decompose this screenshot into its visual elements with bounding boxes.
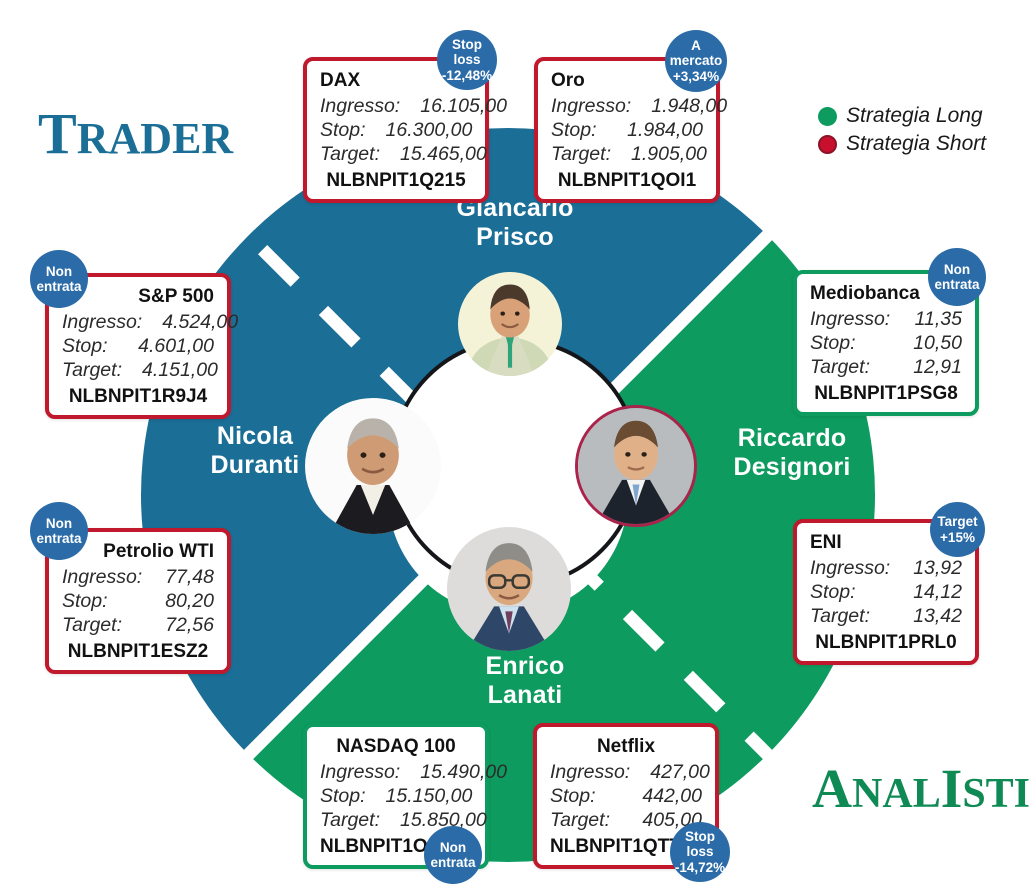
avatar-nicola-duranti xyxy=(305,398,441,534)
field-label-ingresso: Ingresso: xyxy=(320,95,420,119)
field-value-stop: 442,00 xyxy=(642,785,702,809)
page-title-analisti: ANALISTI xyxy=(812,757,1030,820)
badge-line-2: mercato xyxy=(670,53,723,68)
card-isin-code: NLBNPIT1Q215 xyxy=(320,170,472,192)
card-isin-code: NLBNPIT1PSG8 xyxy=(810,383,962,405)
card-row-ingresso: Ingresso: 1.948,00 xyxy=(551,95,703,119)
strategy-legend: Strategia Long Strategia Short xyxy=(818,104,986,160)
field-value-target: 72,56 xyxy=(165,614,214,638)
badge-line-2: entrata xyxy=(934,277,979,292)
card-row-ingresso: Ingresso: 77,48 xyxy=(62,566,214,590)
card-row-ingresso: Ingresso: 16.105,00 xyxy=(320,95,472,119)
badge-line-1: Target xyxy=(937,514,977,529)
field-label-stop: Stop: xyxy=(320,785,386,809)
field-value-stop: 16.300,00 xyxy=(386,119,473,143)
avatar-giancarlo-prisco xyxy=(458,272,562,376)
field-label-target: Target: xyxy=(550,809,630,833)
field-value-ingresso: 4.524,00 xyxy=(162,311,238,335)
field-label-stop: Stop: xyxy=(320,119,386,143)
card-isin-code: NLBNPIT1QOI1 xyxy=(551,170,703,192)
field-value-stop: 14,12 xyxy=(913,581,962,605)
card-row-target: Target: 1.905,00 xyxy=(551,143,703,167)
field-value-target: 13,42 xyxy=(913,605,962,629)
title-analisti-initial: A xyxy=(812,758,852,819)
field-value-ingresso: 16.105,00 xyxy=(420,95,507,119)
card-row-stop: Stop: 442,00 xyxy=(550,785,702,809)
legend-label-long: Strategia Long xyxy=(846,104,983,128)
badge-line-2: entrata xyxy=(430,855,475,870)
badge-line-1: Stop xyxy=(452,37,482,52)
field-label-ingresso: Ingresso: xyxy=(320,761,420,785)
infographic-canvas: Giancarlo Prisco Nicola Duranti Riccardo… xyxy=(0,0,1031,886)
field-value-ingresso: 427,00 xyxy=(650,761,710,785)
field-value-stop: 10,50 xyxy=(913,332,962,356)
field-label-target: Target: xyxy=(320,809,400,833)
field-value-ingresso: 13,92 xyxy=(913,557,962,581)
card-row-target: Target: 12,91 xyxy=(810,356,962,380)
status-badge-oro: A mercato +3,34% xyxy=(665,30,727,92)
field-label-stop: Stop: xyxy=(810,581,876,605)
card-row-target: Target: 4.151,00 xyxy=(62,359,214,383)
title-analisti-i: I xyxy=(941,758,963,819)
badge-line-3: +3,34% xyxy=(673,69,719,84)
field-label-target: Target: xyxy=(62,359,142,383)
advisor-lastname: Lanati xyxy=(415,681,635,710)
field-label-ingresso: Ingresso: xyxy=(550,761,650,785)
field-value-stop: 4.601,00 xyxy=(138,335,214,359)
status-badge-eni: Target +15% xyxy=(930,502,985,557)
field-value-target: 1.905,00 xyxy=(631,143,707,167)
avatar-enrico-lanati xyxy=(447,527,571,651)
title-analisti-rest: NAL xyxy=(852,771,941,817)
badge-line-2: +15% xyxy=(940,530,975,545)
legend-label-short: Strategia Short xyxy=(846,132,986,156)
badge-line-2: entrata xyxy=(36,531,81,546)
status-badge-petrolio-wti: Non entrata xyxy=(30,502,88,560)
field-label-ingresso: Ingresso: xyxy=(810,308,910,332)
field-label-target: Target: xyxy=(810,605,890,629)
title-trader-initial: T xyxy=(38,101,77,166)
field-label-target: Target: xyxy=(62,614,142,638)
advisor-name-riccardo-designori: Riccardo Designori xyxy=(692,424,892,481)
advisor-firstname: Enrico xyxy=(415,652,635,681)
field-value-ingresso: 11,35 xyxy=(915,308,962,332)
field-value-ingresso: 77,48 xyxy=(165,566,214,590)
card-row-ingresso: Ingresso: 427,00 xyxy=(550,761,702,785)
card-row-stop: Stop: 14,12 xyxy=(810,581,962,605)
card-row-stop: Stop: 4.601,00 xyxy=(62,335,214,359)
badge-line-1: Non xyxy=(46,264,72,279)
badge-line-1: Non xyxy=(46,516,72,531)
card-title: Netflix xyxy=(550,736,702,758)
field-value-ingresso: 15.490,00 xyxy=(420,761,507,785)
card-row-stop: Stop: 10,50 xyxy=(810,332,962,356)
title-trader-rest: RADER xyxy=(77,114,233,163)
field-value-stop: 15.150,00 xyxy=(386,785,473,809)
advisor-firstname: Riccardo xyxy=(692,424,892,453)
page-title-trader: TRADER xyxy=(38,100,233,167)
card-row-stop: Stop: 16.300,00 xyxy=(320,119,472,143)
status-badge-sp500: Non entrata xyxy=(30,250,88,308)
badge-line-1: Stop xyxy=(685,829,715,844)
card-row-stop: Stop: 1.984,00 xyxy=(551,119,703,143)
legend-dot-long-icon xyxy=(818,107,837,126)
field-label-ingresso: Ingresso: xyxy=(62,311,162,335)
badge-line-2: loss xyxy=(453,52,480,67)
card-isin-code: NLBNPIT1R9J4 xyxy=(62,386,214,408)
card-row-target: Target: 13,42 xyxy=(810,605,962,629)
advisor-lastname: Designori xyxy=(692,453,892,482)
legend-dot-short-icon xyxy=(818,135,837,154)
badge-line-1: Non xyxy=(944,262,970,277)
card-row-stop: Stop: 15.150,00 xyxy=(320,785,472,809)
status-badge-dax: Stop loss -12,48% xyxy=(437,30,497,90)
field-label-ingresso: Ingresso: xyxy=(810,557,910,581)
legend-item-long: Strategia Long xyxy=(818,104,986,128)
card-isin-code: NLBNPIT1ESZ2 xyxy=(62,641,214,663)
title-analisti-tail: STI xyxy=(962,771,1030,817)
card-row-ingresso: Ingresso: 4.524,00 xyxy=(62,311,214,335)
advisor-lastname: Prisco xyxy=(400,223,630,252)
field-label-target: Target: xyxy=(551,143,631,167)
status-badge-mediobanca: Non entrata xyxy=(928,248,986,306)
badge-line-1: Non xyxy=(440,840,466,855)
card-title: Petrolio WTI xyxy=(62,541,214,563)
card-title: NASDAQ 100 xyxy=(320,736,472,758)
card-row-target: Target: 72,56 xyxy=(62,614,214,638)
field-value-target: 4.151,00 xyxy=(142,359,218,383)
field-value-stop: 80,20 xyxy=(165,590,214,614)
badge-line-2: loss xyxy=(686,844,713,859)
field-value-target: 12,91 xyxy=(913,356,962,380)
status-badge-netflix: Stop loss -14,72% xyxy=(670,822,730,882)
advisor-name-enrico-lanati: Enrico Lanati xyxy=(415,652,635,709)
field-value-stop: 1.984,00 xyxy=(627,119,703,143)
field-value-ingresso: 1.948,00 xyxy=(651,95,727,119)
field-value-target: 15.465,00 xyxy=(400,143,487,167)
card-row-ingresso: Ingresso: 11,35 xyxy=(810,308,962,332)
badge-line-3: -14,72% xyxy=(675,860,725,875)
badge-line-1: A xyxy=(691,38,701,53)
card-isin-code: NLBNPIT1PRL0 xyxy=(810,632,962,654)
field-label-target: Target: xyxy=(810,356,890,380)
field-label-stop: Stop: xyxy=(62,335,128,359)
field-label-stop: Stop: xyxy=(810,332,876,356)
field-label-stop: Stop: xyxy=(551,119,617,143)
field-label-ingresso: Ingresso: xyxy=(62,566,162,590)
legend-item-short: Strategia Short xyxy=(818,132,986,156)
status-badge-nasdaq-100: Non entrata xyxy=(424,826,482,884)
field-label-ingresso: Ingresso: xyxy=(551,95,651,119)
badge-line-2: entrata xyxy=(36,279,81,294)
field-label-target: Target: xyxy=(320,143,400,167)
card-row-stop: Stop: 80,20 xyxy=(62,590,214,614)
field-label-stop: Stop: xyxy=(62,590,128,614)
card-row-ingresso: Ingresso: 13,92 xyxy=(810,557,962,581)
avatar-riccardo-designori xyxy=(575,405,697,527)
card-row-target: Target: 15.465,00 xyxy=(320,143,472,167)
badge-line-3: -12,48% xyxy=(442,68,492,83)
card-row-ingresso: Ingresso: 15.490,00 xyxy=(320,761,472,785)
field-label-stop: Stop: xyxy=(550,785,616,809)
